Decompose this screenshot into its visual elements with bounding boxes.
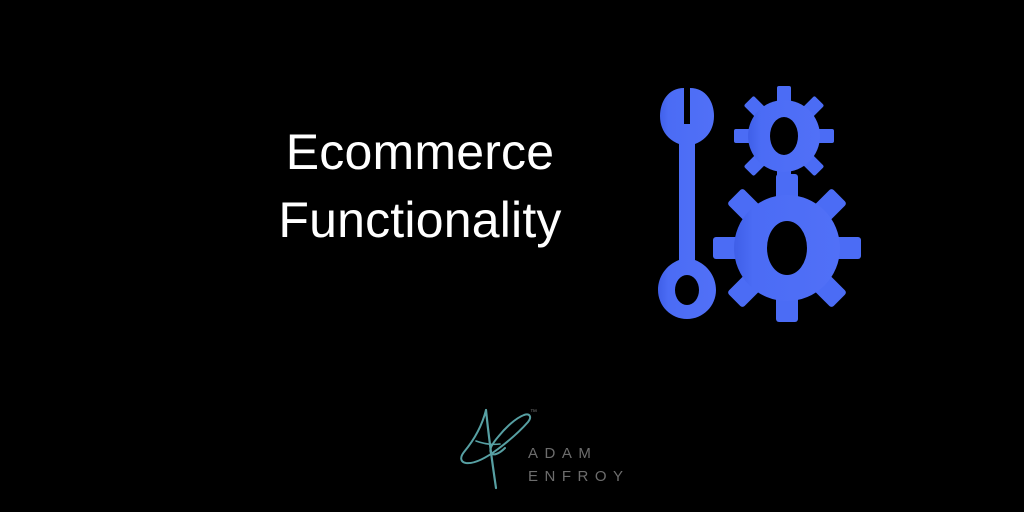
title-line-2: Functionality <box>112 186 728 254</box>
wrench-and-gears-icon <box>648 80 868 330</box>
wordmark-line-2: ENFROY <box>528 465 630 488</box>
wordmark-line-1: ADAM <box>528 442 630 465</box>
large-gear-icon <box>713 174 861 322</box>
small-gear-icon <box>734 86 834 186</box>
slide-canvas: Ecommerce Functionality <box>0 0 1024 512</box>
title-line-1: Ecommerce <box>112 118 728 186</box>
trademark-symbol: ™ <box>530 409 537 416</box>
page-title: Ecommerce Functionality <box>112 118 728 254</box>
wrench-icon <box>658 88 716 319</box>
brand-logo: ™ ADAM ENFROY <box>458 396 638 494</box>
logo-wordmark: ADAM ENFROY <box>528 442 630 488</box>
